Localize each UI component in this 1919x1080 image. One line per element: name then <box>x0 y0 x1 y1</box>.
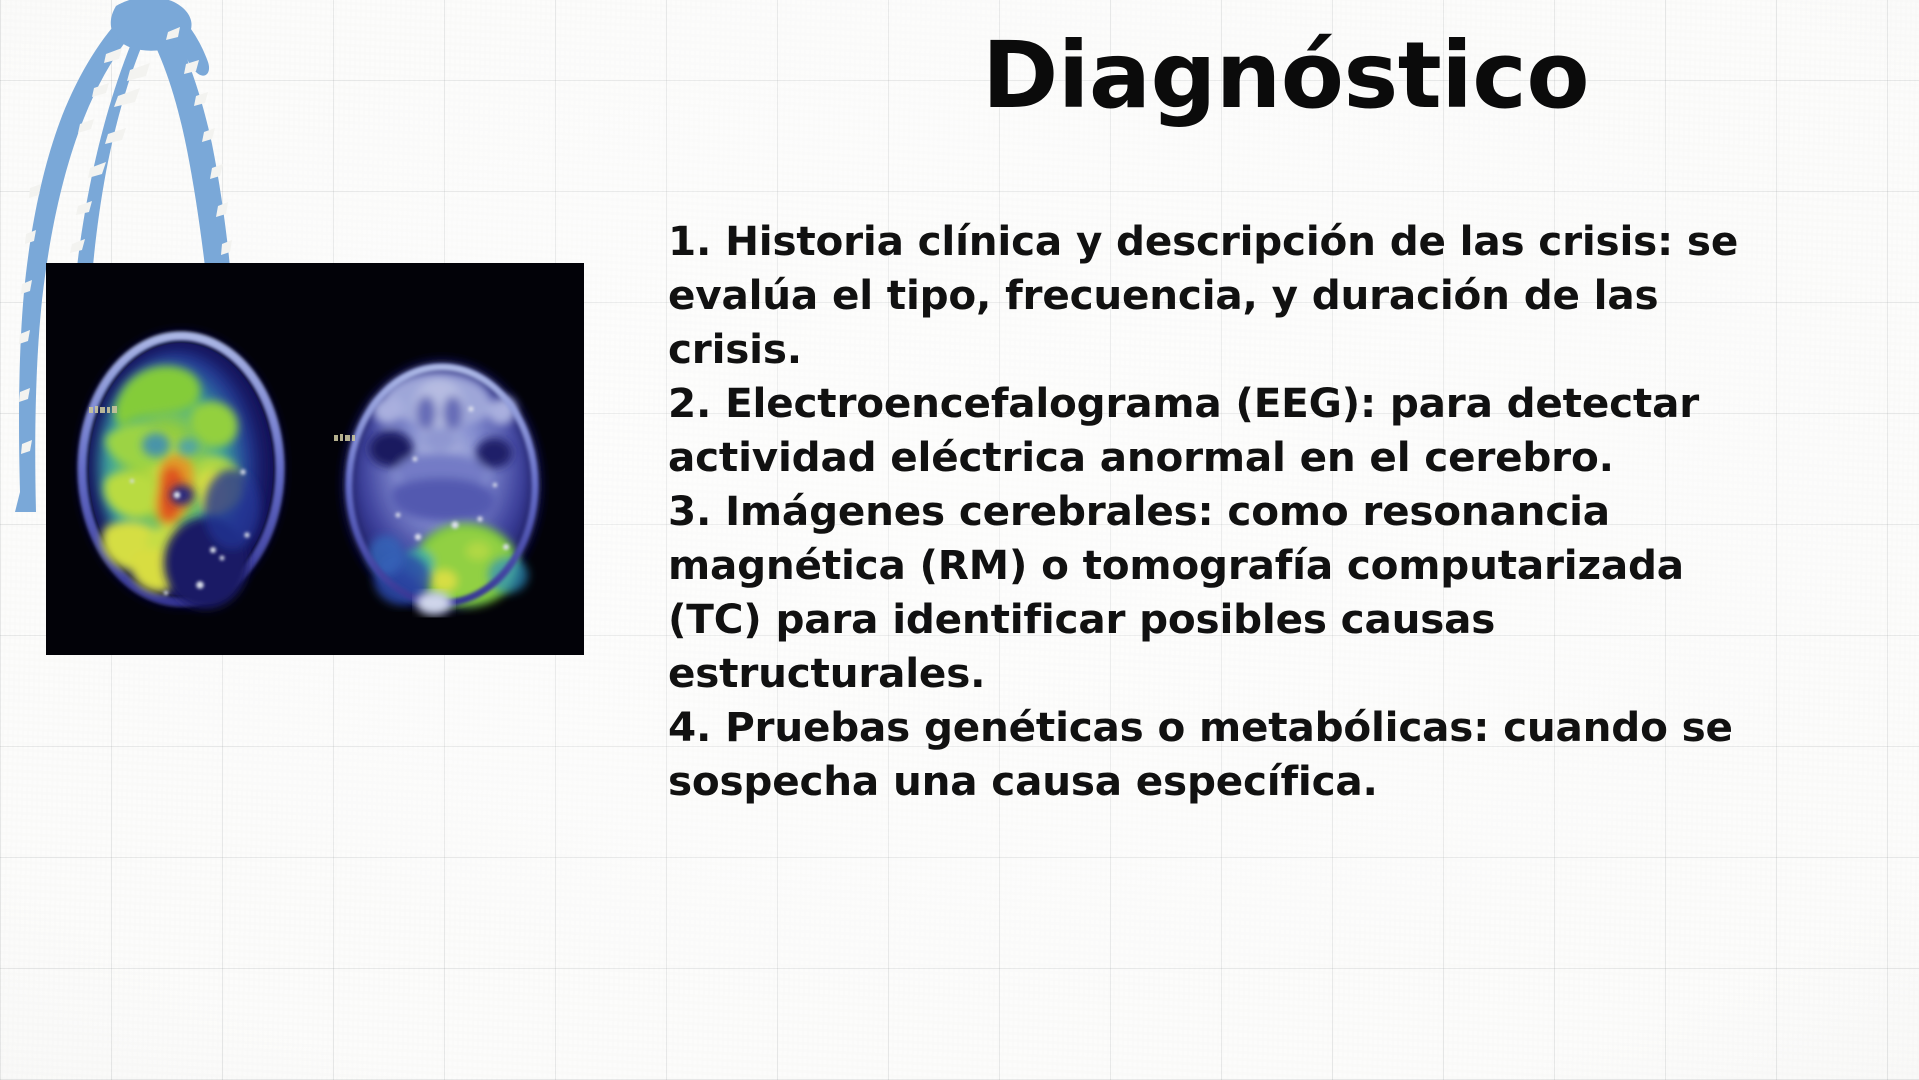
list-line: crisis. <box>668 322 1919 376</box>
list-line: 4. Pruebas genéticas o metabólicas: cuan… <box>668 700 1919 754</box>
diagnosis-list: 1. Historia clínica y descripción de las… <box>668 214 1919 808</box>
list-line: sospecha una causa específica. <box>668 754 1919 808</box>
page-title-text: Diagnóstico <box>982 22 1589 131</box>
list-line: actividad eléctrica anormal en el cerebr… <box>668 430 1919 484</box>
slide-canvas: Diagnóstico 1. Historia clínica y descri… <box>0 0 1919 1080</box>
list-line: 2. Electroencefalograma (EEG): para dete… <box>668 376 1919 430</box>
list-line: 1. Historia clínica y descripción de las… <box>668 214 1919 268</box>
list-line: estructurales. <box>668 646 1919 700</box>
list-line: evalúa el tipo, frecuencia, y duración d… <box>668 268 1919 322</box>
page-title: Diagnóstico <box>668 22 1919 131</box>
list-line: 3. Imágenes cerebrales: como resonancia <box>668 484 1919 538</box>
list-line: (TC) para identificar posibles causas <box>668 592 1919 646</box>
brain-scan-image <box>46 263 584 655</box>
list-line: magnética (RM) o tomografía computarizad… <box>668 538 1919 592</box>
